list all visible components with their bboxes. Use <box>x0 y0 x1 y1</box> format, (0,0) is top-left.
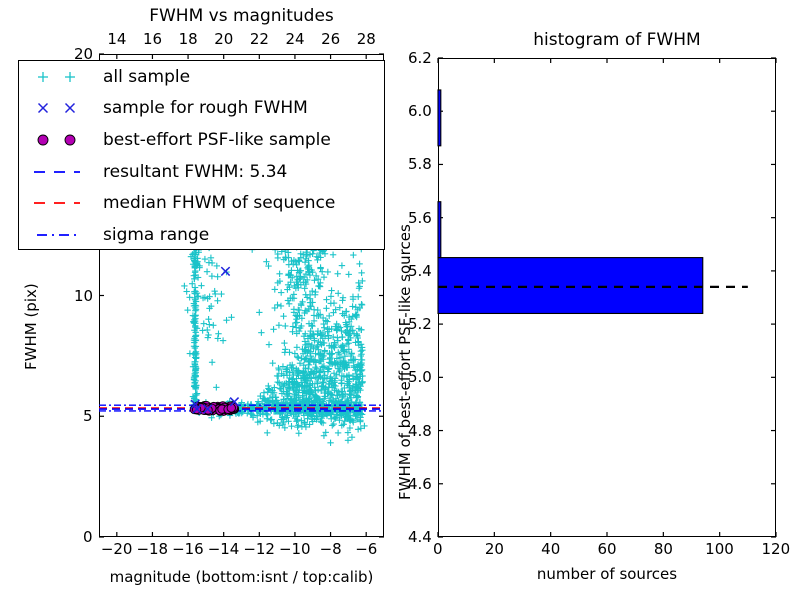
legend-item: median FHWM of sequence <box>19 187 384 219</box>
legend-marker-plus <box>25 62 99 92</box>
tick-label: 100 <box>705 540 734 558</box>
tick-label: 5.8 <box>408 155 432 173</box>
tick-label: 4.4 <box>408 528 432 546</box>
tick-label: −8 <box>320 540 342 558</box>
legend-marker-cross <box>25 93 99 123</box>
tick-label: −10 <box>279 540 311 558</box>
tick-label: 20 <box>485 540 504 558</box>
tick-label: 26 <box>321 30 340 48</box>
tick-label: 80 <box>654 540 673 558</box>
tick-label: 14 <box>107 30 126 48</box>
tick-label: 0 <box>433 540 443 558</box>
legend-item: resultant FWHM: 5.34 <box>19 156 384 188</box>
tick-label: 6.2 <box>408 49 432 67</box>
left-ylabel: FWHM (pix) <box>22 283 40 370</box>
legend-item: all sample <box>19 61 384 93</box>
tick-label: −16 <box>172 540 204 558</box>
legend-marker-wrap <box>25 187 99 219</box>
left-xlabel: magnitude (bottom:isnt / top:calib) <box>99 568 384 586</box>
legend-marker-wrap <box>25 93 99 125</box>
legend-marker-dashdot <box>25 220 99 250</box>
legend-label: sigma range <box>99 225 209 245</box>
legend-marker-wrap <box>25 219 99 251</box>
legend-label: all sample <box>99 67 190 87</box>
legend-marker-dashed <box>25 188 99 218</box>
figure-canvas: FWHM vs magnitudes 1416182022242628 −20−… <box>0 0 800 600</box>
histogram-bar <box>438 258 703 314</box>
legend-box: all samplesample for rough FWHMbest-effo… <box>18 60 385 250</box>
tick-label: 24 <box>285 30 304 48</box>
tick-label: 40 <box>541 540 560 558</box>
histogram-bar <box>438 202 441 258</box>
tick-label: −18 <box>136 540 168 558</box>
legend-item: best-effort PSF-like sample <box>19 124 384 156</box>
legend-marker-wrap <box>25 156 99 188</box>
tick-label: 0 <box>83 528 93 546</box>
tick-label: 18 <box>179 30 198 48</box>
legend-marker-wrap <box>25 124 99 156</box>
tick-label: 22 <box>250 30 269 48</box>
tick-label: 60 <box>598 540 617 558</box>
legend-label: sample for rough FWHM <box>99 98 308 118</box>
legend-marker-wrap <box>25 61 99 93</box>
tick-label: −20 <box>101 540 133 558</box>
tick-label: 16 <box>143 30 162 48</box>
right-plot-title: histogram of FWHM <box>458 30 776 50</box>
tick-label: −12 <box>243 540 275 558</box>
right-ylabel: FWHM of best-effort PSF-like sources <box>396 224 414 500</box>
histogram-bars <box>438 90 703 314</box>
legend-marker-dot <box>25 125 99 155</box>
histogram-data-layer <box>438 58 776 537</box>
tick-label: 5 <box>83 407 93 425</box>
right-xlabel: number of sources <box>438 565 776 583</box>
tick-label: 6.0 <box>408 102 432 120</box>
tick-label: 20 <box>214 30 233 48</box>
tick-label: 28 <box>357 30 376 48</box>
histogram-bar <box>438 90 441 146</box>
legend-item: sigma range <box>19 219 384 251</box>
legend-label: best-effort PSF-like sample <box>99 130 331 150</box>
tick-label: 10 <box>74 287 93 305</box>
legend-item: sample for rough FWHM <box>19 93 384 125</box>
legend-marker-dashed <box>25 157 99 187</box>
left-plot-title: FWHM vs magnitudes <box>99 6 384 26</box>
tick-label: −14 <box>208 540 240 558</box>
tick-label: 120 <box>762 540 791 558</box>
legend-label: median FHWM of sequence <box>99 193 335 213</box>
tick-label: −6 <box>355 540 377 558</box>
legend-label: resultant FWHM: 5.34 <box>99 162 287 182</box>
